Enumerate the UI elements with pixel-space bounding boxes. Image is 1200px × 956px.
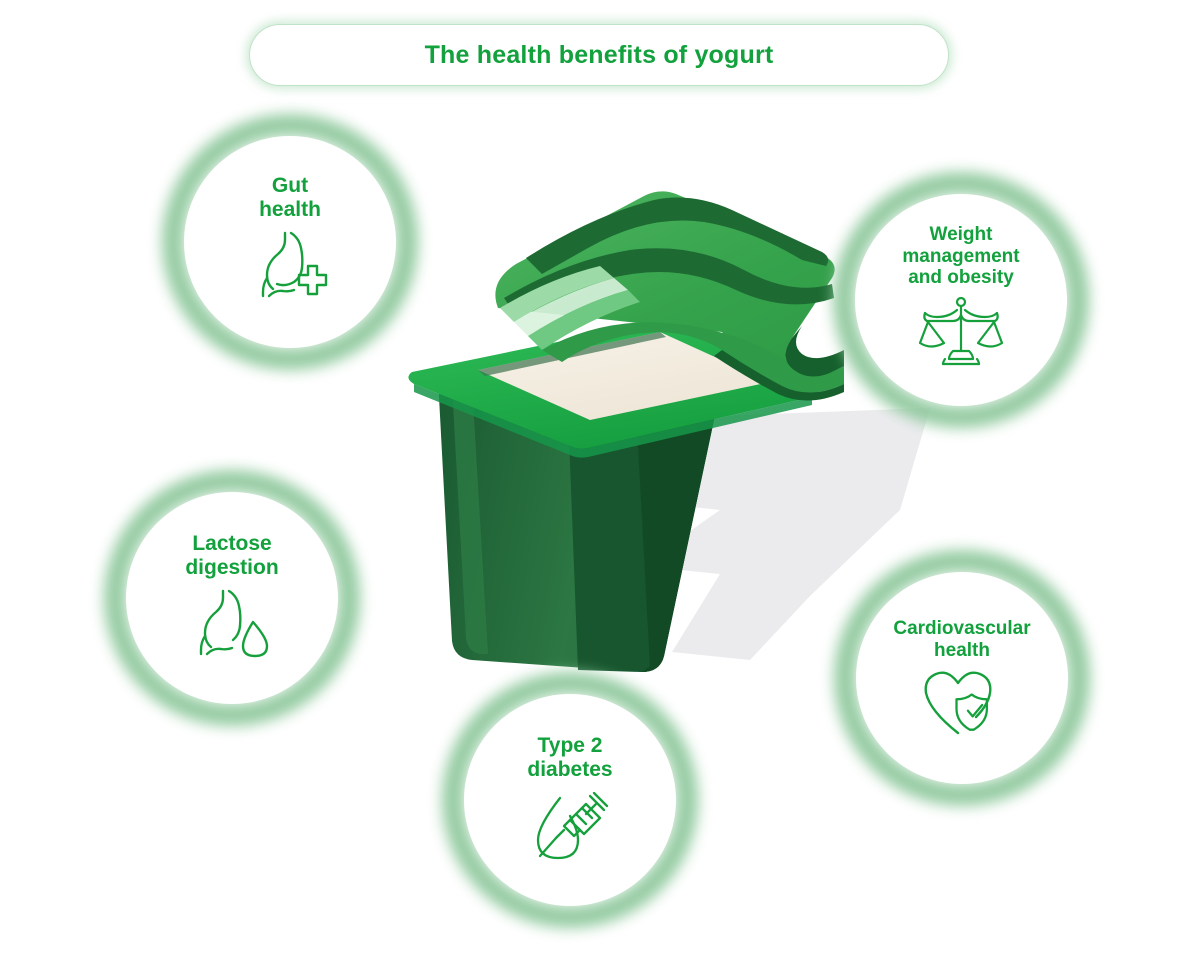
benefit-label-cardiovascular-health: Cardiovascular health [893, 618, 1030, 661]
benefit-bubble-type-2-diabetes[interactable]: Type 2 diabetes [464, 694, 676, 906]
benefit-label-gut-health: Gut health [259, 174, 321, 222]
stomach-cross-icon [251, 230, 329, 302]
benefit-bubble-weight-management[interactable]: Weight management and obesity [855, 194, 1067, 406]
benefit-bubble-lactose-digestion[interactable]: Lactose digestion [126, 492, 338, 704]
heart-shield-icon [922, 669, 1002, 739]
title-banner: The health benefits of yogurt [249, 24, 949, 86]
infographic-canvas: The health benefits of yogurt [0, 0, 1200, 956]
syringe-droplet-icon [530, 792, 610, 864]
yogurt-pot-illustration [392, 186, 862, 696]
benefit-bubble-cardiovascular-health[interactable]: Cardiovascular health [856, 572, 1068, 784]
balance-scale-icon [919, 295, 1003, 367]
stomach-droplet-icon [193, 588, 271, 660]
benefit-label-weight-management: Weight management and obesity [902, 224, 1019, 289]
benefit-label-type-2-diabetes: Type 2 diabetes [527, 734, 612, 782]
page-title: The health benefits of yogurt [425, 41, 774, 70]
benefit-bubble-gut-health[interactable]: Gut health [184, 136, 396, 348]
benefit-label-lactose-digestion: Lactose digestion [185, 532, 278, 580]
